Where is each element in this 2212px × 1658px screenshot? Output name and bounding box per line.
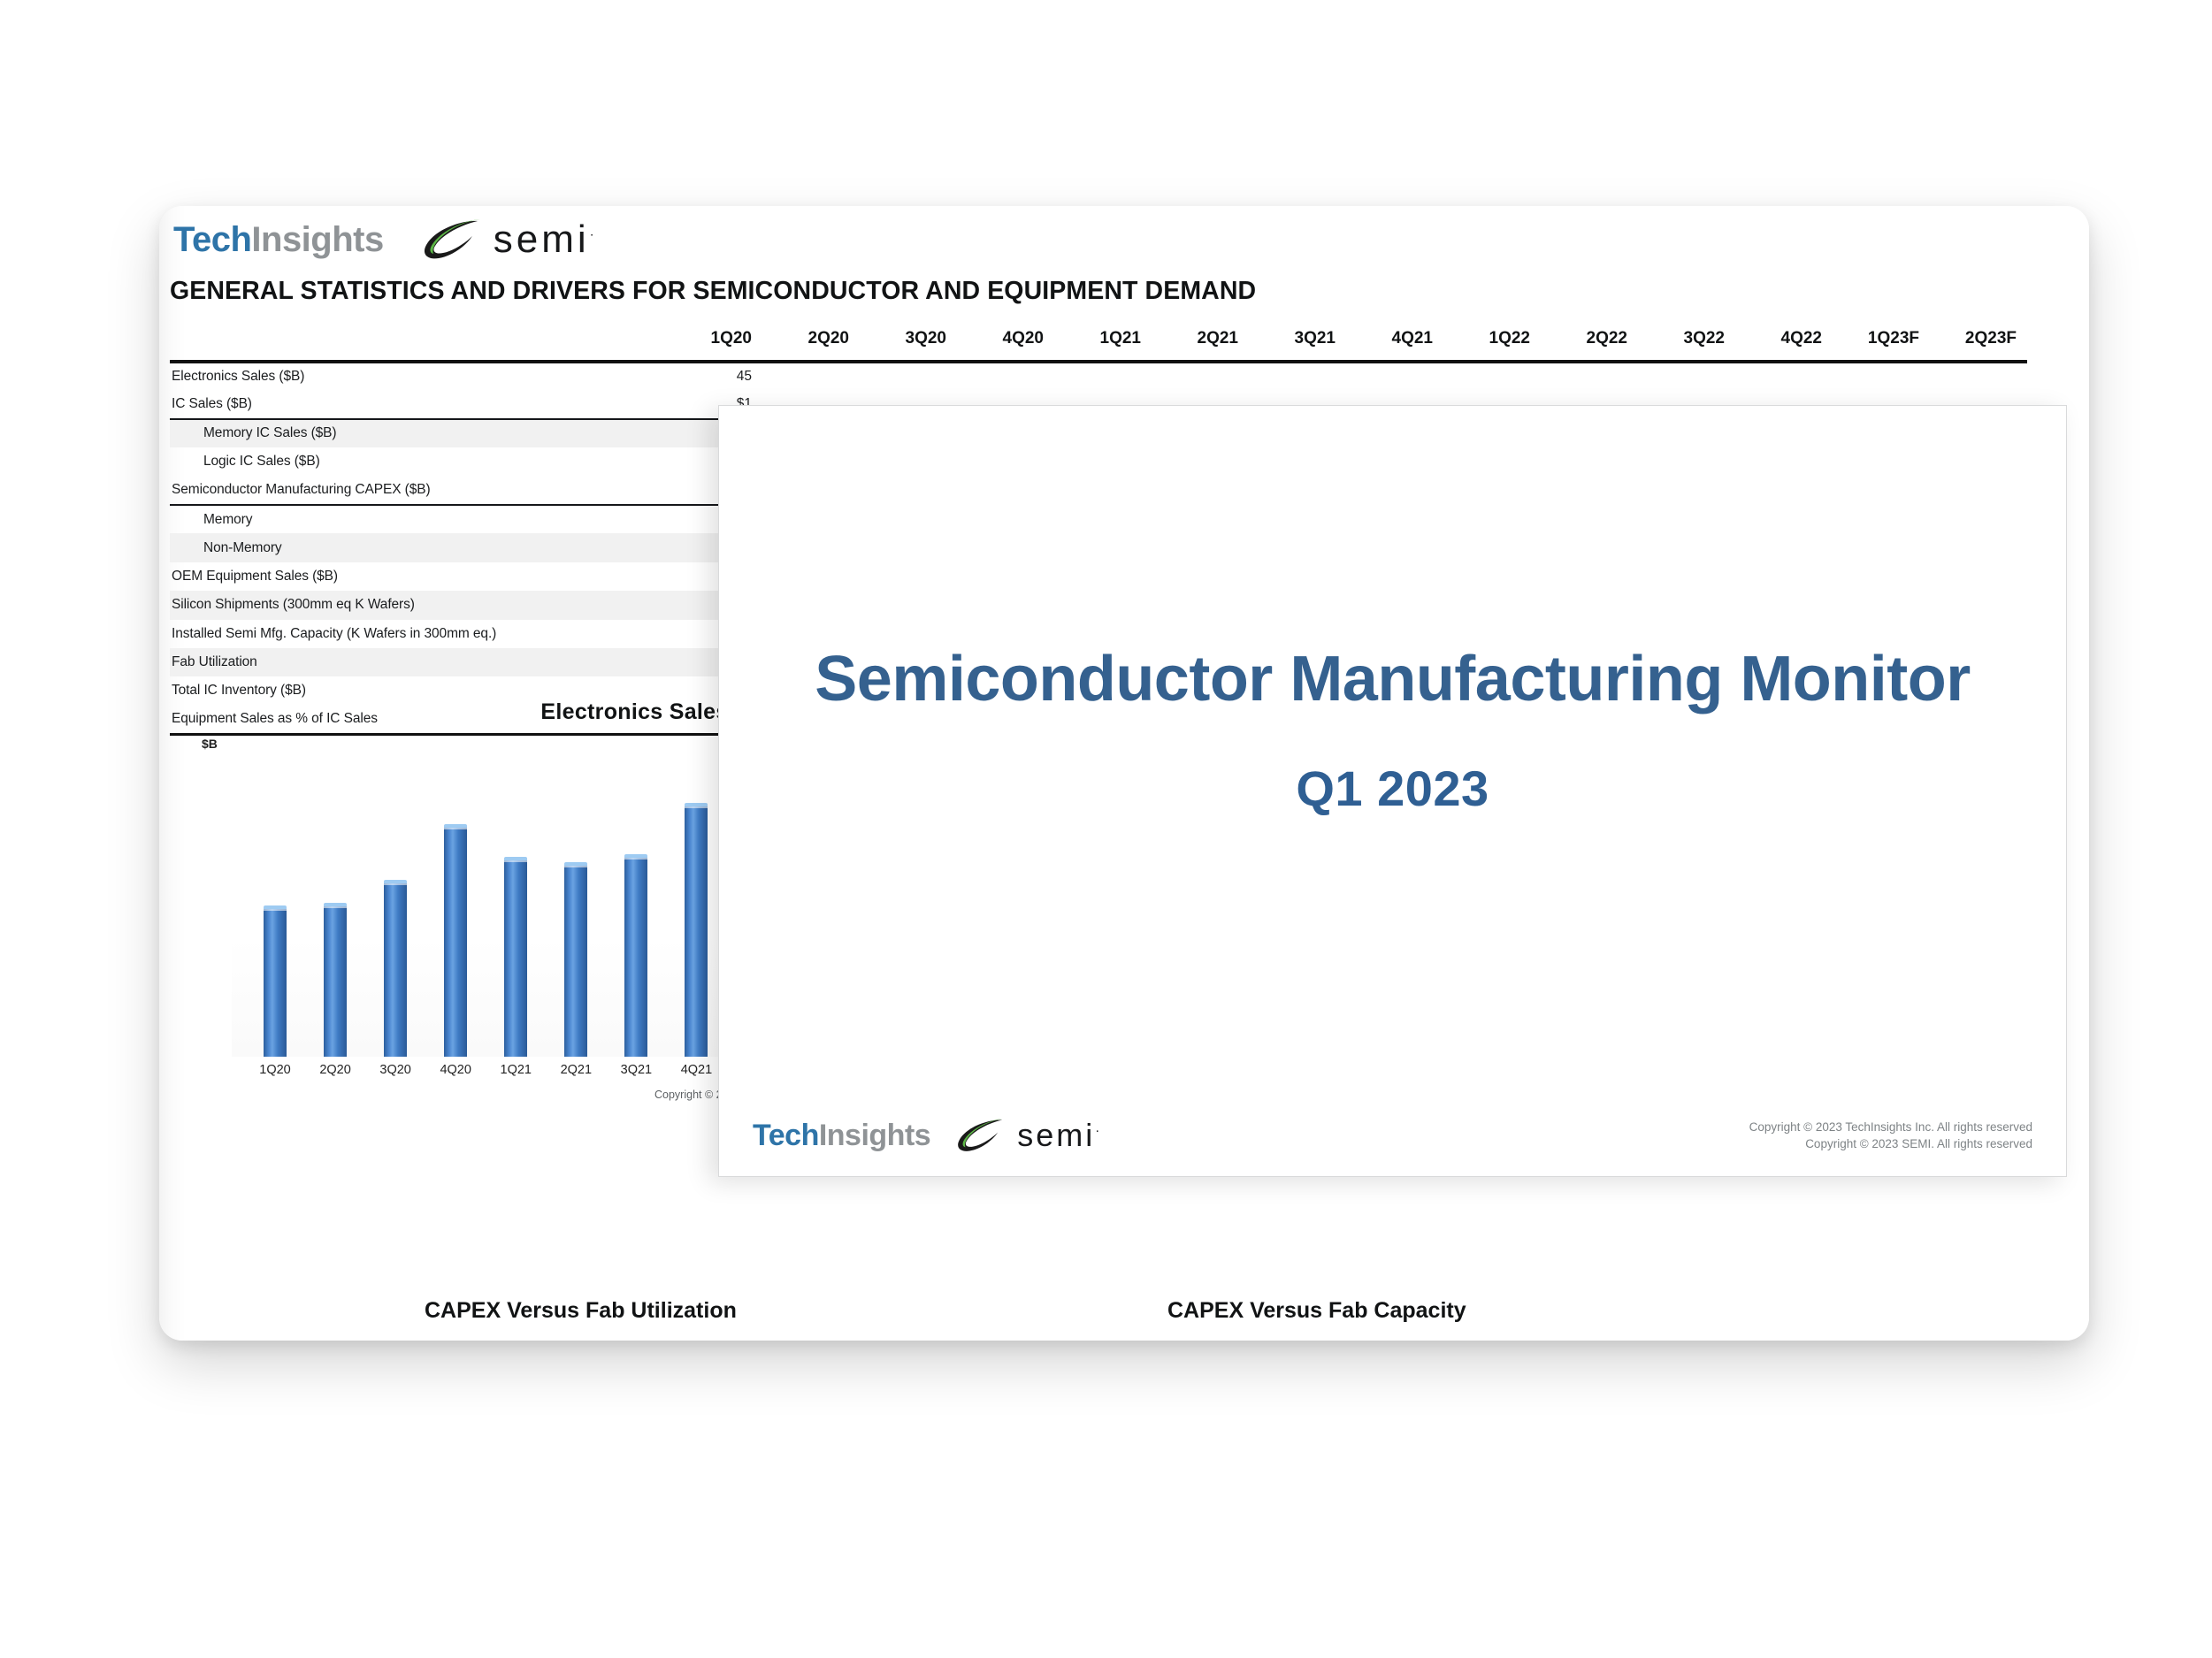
copyright-line-techinsights: Copyright © 2023 TechInsights Inc. All r… <box>1749 1119 2032 1136</box>
copyright-line-semi: Copyright © 2023 SEMI. All rights reserv… <box>1749 1135 2032 1153</box>
row-label: Installed Semi Mfg. Capacity (K Wafers i… <box>170 620 665 648</box>
bar-slot: 4Q21 <box>685 758 708 1057</box>
row-label: Memory IC Sales ($B) <box>170 419 665 447</box>
bar-slot: 2Q21 <box>564 758 587 1057</box>
sheet-heading: GENERAL STATISTICS AND DRIVERS FOR SEMIC… <box>170 277 1256 306</box>
col-header-2q20: 2Q20 <box>762 317 860 362</box>
techinsights-logo-tech: Tech <box>173 220 251 259</box>
col-header-1q20: 1Q20 <box>665 317 762 362</box>
semi-logo: semi· <box>953 1118 1102 1153</box>
col-header-label <box>170 317 665 362</box>
row-label: Electronics Sales ($B) <box>170 362 665 390</box>
semi-swoosh-icon <box>419 218 485 261</box>
title-slide-main: Semiconductor Manufacturing Monitor Q1 2… <box>719 646 2066 817</box>
capex-utilization-title: CAPEX Versus Fab Utilization <box>425 1298 737 1324</box>
title-slide-footer: TechInsights semi· Copyright © 2023 Tech… <box>719 1118 2066 1153</box>
title-slide: Semiconductor Manufacturing Monitor Q1 2… <box>718 405 2067 1177</box>
x-axis-tick-label: 3Q20 <box>379 1063 410 1077</box>
x-axis-tick-label: 1Q21 <box>501 1063 532 1077</box>
techinsights-logo: TechInsights <box>173 222 384 257</box>
bar <box>444 824 467 1057</box>
bar-slot: 2Q20 <box>324 758 347 1057</box>
semi-wordmark: semi· <box>1017 1119 1102 1151</box>
bar <box>564 862 587 1057</box>
col-header-4q22: 4Q22 <box>1735 317 1833 362</box>
title-slide-subheading: Q1 2023 <box>719 760 2066 817</box>
row-label: Semiconductor Manufacturing CAPEX ($B) <box>170 477 665 505</box>
y-axis-unit-label: $B <box>202 737 218 751</box>
row-label: Non-Memory <box>170 533 665 562</box>
col-header-1q21: 1Q21 <box>1054 317 1152 362</box>
bar <box>264 905 287 1057</box>
table-row: Electronics Sales ($B) 45 <box>170 362 2027 390</box>
x-axis-tick-label: 2Q21 <box>561 1063 592 1077</box>
semi-wordmark-text: semi <box>494 218 590 261</box>
bar-slot: 4Q20 <box>444 758 467 1057</box>
bar-slot: 1Q20 <box>264 758 287 1057</box>
bar-slot: 3Q21 <box>624 758 647 1057</box>
semi-wordmark: semi· <box>494 220 598 259</box>
techinsights-logo: TechInsights <box>753 1120 930 1150</box>
semi-trademark: · <box>1095 1123 1102 1138</box>
title-slide-brand-row: TechInsights semi· <box>753 1118 1102 1153</box>
bar <box>384 880 407 1057</box>
bar-slot: 3Q20 <box>384 758 407 1057</box>
col-header-4q20: 4Q20 <box>957 317 1054 362</box>
bar-slot: 1Q21 <box>504 758 527 1057</box>
row-label: OEM Equipment Sales ($B) <box>170 562 665 591</box>
row-label: Logic IC Sales ($B) <box>170 447 665 476</box>
report-brand-row: TechInsights semi· <box>173 218 598 261</box>
table-header: 1Q20 2Q20 3Q20 4Q20 1Q21 2Q21 3Q21 4Q21 … <box>170 317 2027 362</box>
col-header-2q23f: 2Q23F <box>1930 317 2027 362</box>
row-label: IC Sales ($B) <box>170 390 665 418</box>
col-header-3q20: 3Q20 <box>860 317 957 362</box>
semi-wordmark-text: semi <box>1017 1117 1095 1153</box>
bar <box>324 903 347 1057</box>
semi-swoosh-icon <box>953 1118 1008 1153</box>
row-label: Silicon Shipments (300mm eq K Wafers) <box>170 591 665 619</box>
row-label: Fab Utilization <box>170 648 665 676</box>
row-label: Memory <box>170 505 665 533</box>
semi-logo: semi· <box>419 218 598 261</box>
screenshot-stage: TechInsights semi· GENERAL STATISTICS AN… <box>0 0 2212 1658</box>
x-axis-tick-label: 2Q20 <box>319 1063 350 1077</box>
bar <box>624 854 647 1057</box>
title-slide-copyright: Copyright © 2023 TechInsights Inc. All r… <box>1749 1119 2032 1153</box>
x-axis-tick-label: 3Q21 <box>621 1063 652 1077</box>
col-header-3q22: 3Q22 <box>1638 317 1735 362</box>
capex-capacity-title: CAPEX Versus Fab Capacity <box>1167 1298 1466 1324</box>
table-header-row: 1Q20 2Q20 3Q20 4Q20 1Q21 2Q21 3Q21 4Q21 … <box>170 317 2027 362</box>
semi-trademark: · <box>590 226 598 241</box>
col-header-2q22: 2Q22 <box>1541 317 1638 362</box>
col-header-4q21: 4Q21 <box>1346 317 1443 362</box>
bar <box>685 803 708 1057</box>
techinsights-logo-insights: Insights <box>251 220 383 259</box>
row-values-rest <box>762 362 2027 390</box>
col-header-2q21: 2Q21 <box>1152 317 1249 362</box>
row-value: 45 <box>665 362 762 390</box>
x-axis-tick-label: 4Q20 <box>440 1063 471 1077</box>
x-axis-tick-label: 4Q21 <box>681 1063 712 1077</box>
x-axis-tick-label: 1Q20 <box>259 1063 290 1077</box>
col-header-1q22: 1Q22 <box>1443 317 1541 362</box>
bar <box>504 857 527 1057</box>
col-header-1q23f: 1Q23F <box>1833 317 1930 362</box>
techinsights-logo-tech: Tech <box>753 1119 819 1152</box>
col-header-3q21: 3Q21 <box>1249 317 1346 362</box>
techinsights-logo-insights: Insights <box>819 1119 930 1152</box>
title-slide-heading: Semiconductor Manufacturing Monitor <box>719 646 2066 714</box>
